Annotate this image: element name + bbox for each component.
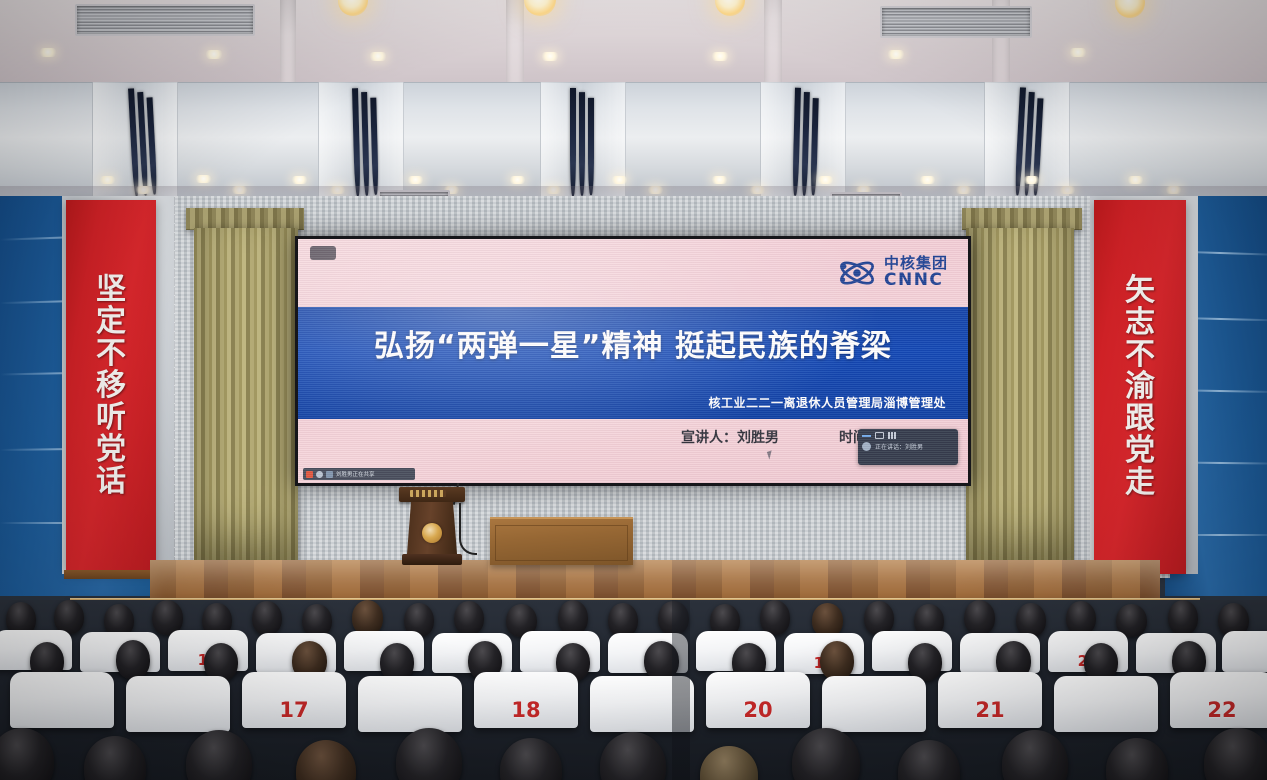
podium [403, 487, 461, 565]
podium-top [399, 487, 465, 502]
audience-head [558, 600, 588, 635]
downlight [712, 52, 728, 61]
banner-char: 跟 [1125, 404, 1155, 434]
audience-head [1168, 600, 1198, 635]
downlight [1128, 176, 1143, 184]
audience-head [0, 728, 54, 780]
ceiling-slats [792, 88, 819, 197]
atom-icon [837, 259, 877, 287]
stage-curtain-right [966, 228, 1074, 564]
auditorium-scene: 坚 定 不 移 听 党 话 矢 志 不 渝 跟 党 走 [0, 0, 1267, 780]
downlight [370, 52, 386, 61]
slide-title-band: 弘扬“两弹一星”精神 挺起民族的脊梁 核工业二二一离退休人员管理局淄博管理处 [298, 307, 968, 419]
presentation-slide[interactable]: 中核集团 CNNC 弘扬“两弹一星”精神 挺起民族的脊梁 核工业二二一离退休人员… [298, 239, 968, 483]
banner-char: 走 [1125, 468, 1155, 498]
banner-char: 坚 [96, 275, 126, 305]
audience-head [792, 728, 860, 780]
mic-icon[interactable] [316, 471, 323, 478]
audience-head [84, 736, 146, 780]
cnnc-logo: 中核集团 CNNC [837, 256, 948, 289]
curtain-valance [962, 208, 1082, 230]
share-status-text: 刘胜男正在共享 [336, 470, 375, 478]
audience-head [812, 603, 843, 637]
downlight [40, 48, 56, 57]
audience-head [898, 740, 960, 780]
seat-number: 20 [706, 698, 810, 722]
seat [10, 672, 114, 728]
panel-participant-row: 正在讲话：刘胜男 [862, 442, 954, 451]
seat: 20 [706, 672, 810, 728]
audience-head [820, 641, 854, 680]
podium-nameplate [410, 490, 446, 497]
downlight [542, 52, 558, 61]
audience-head [608, 603, 638, 637]
minimize-icon[interactable] [862, 435, 871, 437]
banner-char: 定 [96, 307, 126, 337]
seat: 18 [474, 672, 578, 728]
floating-meeting-panel[interactable]: 正在讲话：刘胜男 [858, 429, 958, 465]
audience-head [1106, 738, 1168, 780]
gold-emblem [422, 523, 442, 543]
seat [126, 676, 230, 732]
seat-number: 22 [1170, 698, 1267, 722]
downlight [510, 176, 525, 184]
downlight [1024, 176, 1039, 184]
slide-speaker: 宣讲人：刘胜男 [681, 427, 779, 447]
stage-curtain-left [194, 228, 298, 564]
audience-head [352, 600, 383, 635]
mouse-cursor [767, 450, 774, 459]
banner-char: 党 [96, 435, 126, 465]
banner-char: 党 [1125, 436, 1155, 466]
audience-head [54, 600, 84, 634]
audience-head [116, 640, 150, 679]
slide-organization: 核工业二二一离退休人员管理局淄博管理处 [708, 394, 946, 411]
seat: 17 [242, 672, 346, 728]
logo-english-text: CNNC [884, 272, 948, 289]
audience-head [1016, 603, 1046, 637]
banner-char: 矢 [1125, 276, 1155, 306]
seat [358, 676, 462, 732]
ceiling-slats [570, 88, 594, 196]
downlight [408, 176, 423, 184]
banner-char: 话 [96, 467, 126, 497]
ceiling-slab [296, 0, 506, 92]
panel-controls[interactable] [862, 432, 954, 439]
downlight [818, 176, 833, 184]
downlight [196, 175, 211, 183]
led-screen[interactable]: 中核集团 CNNC 弘扬“两弹一星”精神 挺起民族的脊梁 核工业二二一离退休人员… [295, 236, 971, 486]
audience-head [1002, 730, 1068, 780]
banner-char: 移 [96, 371, 126, 401]
downlight [888, 50, 904, 59]
seat-number: 18 [474, 698, 578, 722]
audience-head [296, 740, 356, 780]
audience-head [700, 746, 758, 780]
audience-head [1066, 601, 1096, 635]
logo-chinese-text: 中核集团 [884, 256, 948, 271]
banner-char: 志 [1125, 308, 1155, 338]
downlight [1070, 48, 1086, 57]
curtain-valance [186, 208, 304, 230]
audience-head [1204, 728, 1267, 780]
audience-head [600, 732, 666, 780]
seat: 22 [1170, 672, 1267, 728]
right-red-banner: 矢 志 不 渝 跟 党 走 [1094, 200, 1186, 574]
audience-head [500, 738, 562, 780]
slide-corner-badge [310, 246, 336, 260]
downlight [612, 176, 627, 184]
wooden-side-table [490, 517, 633, 565]
screen-taskbar[interactable]: 刘胜男正在共享 [303, 468, 415, 480]
share-icon[interactable] [326, 471, 333, 478]
air-vent [75, 4, 255, 36]
window-icon[interactable] [875, 432, 884, 439]
participant-label: 正在讲话：刘胜男 [875, 442, 923, 451]
microphone-cable [459, 503, 477, 555]
seat-number: 21 [938, 698, 1042, 722]
left-red-banner: 坚 定 不 移 听 党 话 [66, 200, 156, 572]
seat [1222, 631, 1267, 672]
banner-foot [64, 570, 158, 579]
seat-number: 17 [242, 698, 346, 722]
audience-head [186, 730, 252, 780]
banner-char: 不 [96, 339, 126, 369]
audience-head [396, 728, 462, 780]
audience-head [964, 600, 995, 635]
downlight [206, 50, 222, 59]
ceiling-slats [352, 88, 379, 197]
aisle [672, 600, 690, 780]
app-icon[interactable] [306, 471, 313, 478]
seat [822, 676, 926, 732]
air-vent [880, 6, 1032, 38]
downlight [920, 176, 935, 184]
downlight [292, 176, 307, 184]
seat: 21 [938, 672, 1042, 728]
slide-title: 弘扬“两弹一星”精神 挺起民族的脊梁 [298, 321, 968, 365]
podium-base [402, 554, 462, 565]
audience-head [252, 601, 282, 635]
grid-icon[interactable] [888, 432, 897, 439]
acoustic-bulkhead [0, 82, 1267, 197]
banner-char: 不 [1125, 340, 1155, 370]
seat [1054, 676, 1158, 732]
audience-head [454, 601, 484, 635]
banner-char: 听 [96, 403, 126, 433]
audience-area: 16 18 21 1 [0, 600, 1267, 780]
audience-head [760, 600, 790, 635]
banner-char: 渝 [1125, 372, 1155, 402]
downlight [100, 176, 115, 184]
downlight [712, 176, 727, 184]
participant-avatar [862, 442, 871, 451]
audience-head [864, 601, 894, 635]
